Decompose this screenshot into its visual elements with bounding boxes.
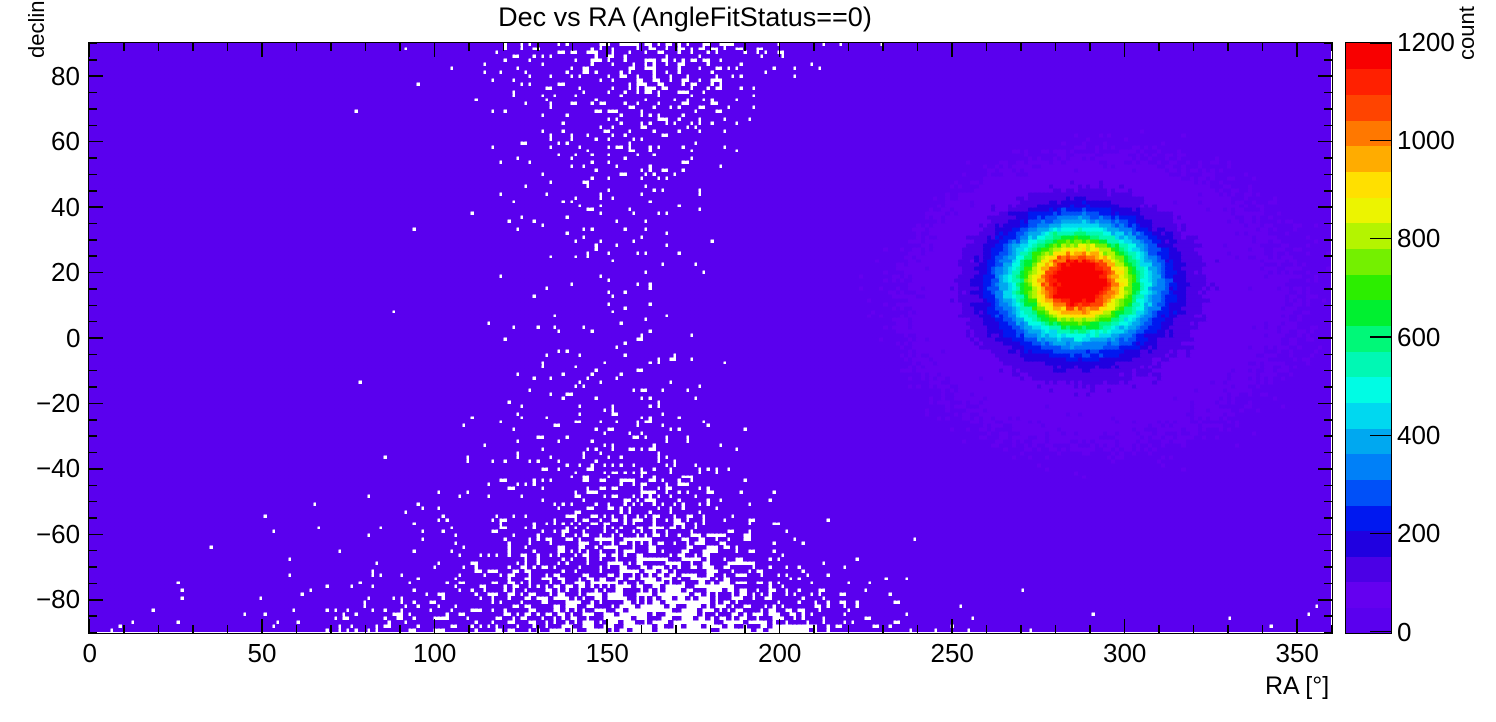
y-tick-right bbox=[1324, 190, 1332, 192]
x-tick-minor bbox=[572, 625, 574, 633]
y-tick-minor bbox=[89, 550, 97, 552]
x-tick-label: 350 bbox=[1276, 638, 1319, 669]
x-tick-top bbox=[1296, 43, 1298, 57]
x-tick-minor bbox=[330, 625, 332, 633]
y-tick-right bbox=[1318, 206, 1332, 208]
y-tick-minor bbox=[89, 141, 103, 143]
x-tick-top bbox=[882, 43, 884, 51]
y-tick-right bbox=[1324, 501, 1332, 503]
y-tick-right bbox=[1324, 288, 1332, 290]
histogram-canvas bbox=[89, 43, 1331, 632]
x-tick-top bbox=[744, 43, 746, 51]
y-tick-right bbox=[1318, 599, 1332, 601]
x-tick-top bbox=[917, 43, 919, 51]
x-tick-minor bbox=[675, 625, 677, 633]
x-tick-top bbox=[537, 43, 539, 51]
y-tick-minor bbox=[89, 239, 97, 241]
y-tick-minor bbox=[89, 485, 97, 487]
y-tick-minor bbox=[89, 534, 103, 536]
y-tick-minor bbox=[89, 190, 97, 192]
y-tick-right bbox=[1318, 468, 1332, 470]
x-tick-minor bbox=[261, 619, 263, 633]
x-tick-minor bbox=[710, 625, 712, 633]
color-scale-band bbox=[1346, 94, 1391, 120]
y-tick-right bbox=[1324, 632, 1332, 634]
color-scale-title: count bbox=[1454, 6, 1480, 60]
color-scale-band bbox=[1346, 428, 1391, 454]
x-tick-label: 250 bbox=[931, 638, 974, 669]
y-tick-label: −40 bbox=[36, 453, 80, 484]
y-tick-minor bbox=[89, 288, 97, 290]
x-tick-minor bbox=[1262, 625, 1264, 633]
y-tick-right bbox=[1324, 108, 1332, 110]
x-tick-top bbox=[434, 43, 436, 57]
y-tick-minor bbox=[89, 435, 97, 437]
y-tick-label: 80 bbox=[51, 61, 80, 92]
y-tick-minor bbox=[89, 223, 97, 225]
x-tick-label: 300 bbox=[1103, 638, 1146, 669]
y-tick-minor bbox=[89, 517, 97, 519]
y-tick-minor bbox=[89, 354, 97, 356]
color-scale-band bbox=[1346, 376, 1391, 402]
y-tick-right bbox=[1324, 157, 1332, 159]
y-tick-minor bbox=[89, 370, 97, 372]
x-tick-minor bbox=[399, 625, 401, 633]
x-tick-top bbox=[606, 43, 608, 57]
x-tick-top bbox=[296, 43, 298, 51]
y-tick-minor bbox=[89, 92, 97, 94]
color-scale-band bbox=[1346, 120, 1391, 146]
color-scale-tick bbox=[1370, 238, 1392, 240]
y-tick-right bbox=[1324, 92, 1332, 94]
y-tick-minor bbox=[89, 386, 97, 388]
x-tick-minor bbox=[779, 619, 781, 633]
x-tick-top bbox=[1262, 43, 1264, 51]
x-tick-minor bbox=[882, 625, 884, 633]
y-tick-right bbox=[1324, 239, 1332, 241]
color-scale-band bbox=[1346, 402, 1391, 428]
y-tick-label: 0 bbox=[66, 323, 80, 354]
plot-frame bbox=[88, 42, 1333, 634]
x-tick-minor bbox=[917, 625, 919, 633]
x-tick-top bbox=[1089, 43, 1091, 51]
x-tick-top bbox=[779, 43, 781, 57]
x-tick-minor bbox=[1227, 625, 1229, 633]
y-tick-right bbox=[1318, 141, 1332, 143]
y-tick-minor bbox=[89, 337, 103, 339]
x-tick-top bbox=[503, 43, 505, 51]
color-scale-label: 1200 bbox=[1397, 27, 1455, 58]
x-tick-top bbox=[89, 43, 91, 57]
x-tick-minor bbox=[986, 625, 988, 633]
y-tick-minor bbox=[89, 321, 97, 323]
color-scale-tick bbox=[1370, 140, 1392, 142]
x-tick-minor bbox=[1124, 619, 1126, 633]
y-tick-minor bbox=[89, 566, 97, 568]
color-scale-band bbox=[1346, 274, 1391, 300]
color-scale-band bbox=[1346, 351, 1391, 377]
y-tick-minor bbox=[89, 174, 97, 176]
x-tick-top bbox=[986, 43, 988, 51]
y-tick-right bbox=[1318, 272, 1332, 274]
color-scale-band bbox=[1346, 582, 1391, 608]
y-tick-right bbox=[1324, 550, 1332, 552]
x-tick-top bbox=[399, 43, 401, 51]
color-scale-band bbox=[1346, 300, 1391, 326]
x-tick-minor bbox=[1055, 625, 1057, 633]
y-tick-minor bbox=[89, 583, 97, 585]
y-tick-minor bbox=[89, 75, 103, 77]
x-tick-minor bbox=[503, 625, 505, 633]
y-tick-minor bbox=[89, 206, 103, 208]
x-tick-minor bbox=[951, 619, 953, 633]
y-tick-right bbox=[1324, 419, 1332, 421]
y-tick-right bbox=[1324, 43, 1332, 45]
color-scale-band bbox=[1346, 505, 1391, 531]
y-tick-right bbox=[1324, 485, 1332, 487]
x-tick-minor bbox=[1193, 625, 1195, 633]
x-tick-label: 0 bbox=[83, 638, 97, 669]
x-tick-top bbox=[572, 43, 574, 51]
color-scale-label: 200 bbox=[1397, 518, 1440, 549]
y-tick-right bbox=[1324, 386, 1332, 388]
x-axis-title: RA [°] bbox=[1265, 672, 1329, 701]
x-tick-label: 200 bbox=[758, 638, 801, 669]
y-tick-label: −20 bbox=[36, 388, 80, 419]
color-scale-label: 800 bbox=[1397, 223, 1440, 254]
x-tick-minor bbox=[1296, 619, 1298, 633]
color-scale-tick bbox=[1370, 42, 1392, 44]
y-tick-right bbox=[1324, 583, 1332, 585]
x-tick-minor bbox=[744, 625, 746, 633]
color-scale-band bbox=[1346, 248, 1391, 274]
x-tick-minor bbox=[468, 625, 470, 633]
x-tick-top bbox=[227, 43, 229, 51]
y-tick-minor bbox=[89, 255, 97, 257]
color-scale-label: 600 bbox=[1397, 322, 1440, 353]
x-tick-minor bbox=[434, 619, 436, 633]
color-scale-band bbox=[1346, 146, 1391, 172]
x-tick-top bbox=[468, 43, 470, 51]
y-tick-right bbox=[1324, 370, 1332, 372]
color-scale-tick bbox=[1370, 336, 1392, 338]
y-tick-minor bbox=[89, 108, 97, 110]
x-tick-minor bbox=[365, 625, 367, 633]
y-tick-minor bbox=[89, 599, 103, 601]
x-tick-minor bbox=[1089, 625, 1091, 633]
color-scale-label: 0 bbox=[1397, 617, 1411, 648]
y-tick-right bbox=[1324, 255, 1332, 257]
y-tick-right bbox=[1324, 174, 1332, 176]
y-tick-minor bbox=[89, 125, 97, 127]
y-tick-minor bbox=[89, 59, 97, 61]
y-tick-right bbox=[1318, 534, 1332, 536]
y-tick-right bbox=[1324, 435, 1332, 437]
color-scale-tick bbox=[1370, 631, 1392, 633]
y-tick-right bbox=[1324, 354, 1332, 356]
x-tick-top bbox=[261, 43, 263, 57]
x-tick-top bbox=[813, 43, 815, 51]
x-tick-top bbox=[848, 43, 850, 51]
x-tick-minor bbox=[848, 625, 850, 633]
y-tick-minor bbox=[89, 468, 103, 470]
color-scale-band bbox=[1346, 69, 1391, 95]
x-tick-top bbox=[158, 43, 160, 51]
y-tick-minor bbox=[89, 157, 97, 159]
x-tick-top bbox=[641, 43, 643, 51]
x-tick-minor bbox=[158, 625, 160, 633]
y-tick-label: −80 bbox=[36, 584, 80, 615]
y-tick-label: 20 bbox=[51, 257, 80, 288]
y-tick-minor bbox=[89, 615, 97, 617]
root-plot-canvas: Dec vs RA (AngleFitStatus==0) 0501001502… bbox=[0, 0, 1496, 722]
y-tick-right bbox=[1318, 337, 1332, 339]
x-tick-label: 100 bbox=[413, 638, 456, 669]
x-tick-label: 150 bbox=[586, 638, 629, 669]
y-tick-right bbox=[1324, 615, 1332, 617]
y-tick-right bbox=[1318, 75, 1332, 77]
x-tick-top bbox=[123, 43, 125, 51]
y-tick-right bbox=[1324, 59, 1332, 61]
y-tick-right bbox=[1324, 321, 1332, 323]
y-tick-minor bbox=[89, 272, 103, 274]
y-tick-right bbox=[1324, 566, 1332, 568]
y-tick-minor bbox=[89, 43, 97, 45]
color-scale-label: 400 bbox=[1397, 420, 1440, 451]
x-tick-minor bbox=[537, 625, 539, 633]
color-scale-tick bbox=[1370, 533, 1392, 535]
color-scale-band bbox=[1346, 223, 1391, 249]
x-tick-top bbox=[1124, 43, 1126, 57]
y-tick-minor bbox=[89, 632, 97, 634]
color-scale-band bbox=[1346, 43, 1391, 69]
page-title: Dec vs RA (AngleFitStatus==0) bbox=[0, 2, 1370, 33]
x-tick-minor bbox=[123, 625, 125, 633]
y-tick-minor bbox=[89, 403, 103, 405]
color-scale-band bbox=[1346, 556, 1391, 582]
y-tick-right bbox=[1324, 452, 1332, 454]
x-tick-top bbox=[1020, 43, 1022, 51]
x-tick-top bbox=[1158, 43, 1160, 51]
x-tick-minor bbox=[641, 625, 643, 633]
y-tick-right bbox=[1324, 517, 1332, 519]
y-tick-label: 60 bbox=[51, 126, 80, 157]
y-tick-minor bbox=[89, 305, 97, 307]
y-tick-label: 40 bbox=[51, 192, 80, 223]
color-scale-band bbox=[1346, 479, 1391, 505]
x-tick-minor bbox=[192, 625, 194, 633]
color-scale-band bbox=[1346, 453, 1391, 479]
x-tick-minor bbox=[296, 625, 298, 633]
y-tick-label: −60 bbox=[36, 519, 80, 550]
x-tick-minor bbox=[227, 625, 229, 633]
x-tick-top bbox=[330, 43, 332, 51]
color-scale-band bbox=[1346, 325, 1391, 351]
x-tick-top bbox=[951, 43, 953, 57]
y-tick-right bbox=[1318, 403, 1332, 405]
x-tick-top bbox=[675, 43, 677, 51]
y-tick-right bbox=[1324, 305, 1332, 307]
x-tick-label: 50 bbox=[248, 638, 277, 669]
color-scale-bar bbox=[1345, 42, 1392, 634]
color-scale-band bbox=[1346, 171, 1391, 197]
x-tick-top bbox=[365, 43, 367, 51]
x-tick-minor bbox=[606, 619, 608, 633]
y-tick-minor bbox=[89, 501, 97, 503]
x-tick-top bbox=[710, 43, 712, 51]
x-tick-minor bbox=[1020, 625, 1022, 633]
y-axis-title: declination [°] bbox=[24, 0, 50, 58]
y-tick-right bbox=[1324, 223, 1332, 225]
x-tick-top bbox=[1193, 43, 1195, 51]
y-tick-minor bbox=[89, 419, 97, 421]
x-tick-top bbox=[1055, 43, 1057, 51]
x-tick-top bbox=[192, 43, 194, 51]
x-tick-top bbox=[1227, 43, 1229, 51]
y-tick-minor bbox=[89, 452, 97, 454]
x-tick-minor bbox=[813, 625, 815, 633]
color-scale-tick bbox=[1370, 435, 1392, 437]
color-scale-label: 1000 bbox=[1397, 125, 1455, 156]
color-scale-band bbox=[1346, 197, 1391, 223]
x-tick-minor bbox=[1158, 625, 1160, 633]
y-tick-right bbox=[1324, 125, 1332, 127]
